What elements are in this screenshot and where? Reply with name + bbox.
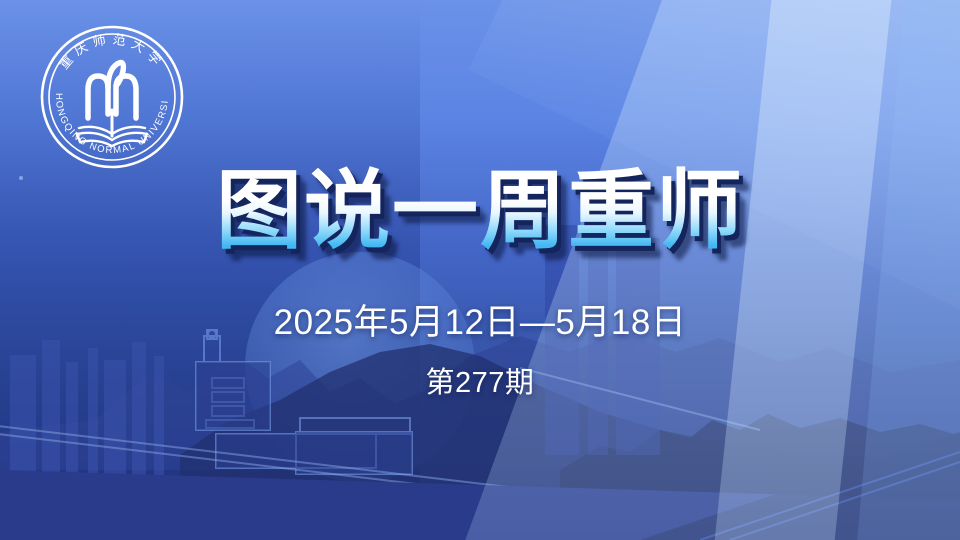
university-logo: 重庆师范大学 CHONGQING NORMAL UNIVERSITY — [39, 24, 185, 170]
issue-number-label: 第277期 — [0, 366, 960, 400]
university-seal-icon: 重庆师范大学 CHONGQING NORMAL UNIVERSITY — [39, 24, 185, 170]
date-range-label: 2025年5月12日—5月18日 — [0, 303, 960, 343]
page-title: 图说一周重师 — [0, 162, 960, 260]
poster-canvas: 重庆师范大学 CHONGQING NORMAL UNIVERSITY — [0, 0, 960, 540]
